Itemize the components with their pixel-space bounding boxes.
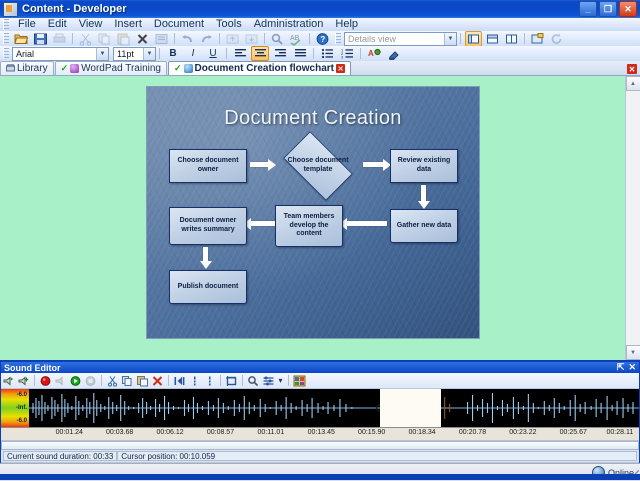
record-icon[interactable] (39, 375, 52, 387)
flowchart-node-team-members-develop-content[interactable]: Team members develop the content (275, 205, 343, 247)
undo-icon (179, 31, 196, 47)
align-justify-icon[interactable] (291, 46, 309, 61)
menu-item-file[interactable]: File (12, 18, 42, 31)
toolbar-grip-handle[interactable] (3, 33, 9, 44)
toolbar-separator (226, 48, 227, 59)
tab-label: Library (17, 63, 48, 74)
layout-single-icon[interactable] (465, 31, 482, 47)
title-bar: Content - Developer _ ❐ ✕ (0, 0, 640, 18)
ruler-tick: 00:13.45 (308, 429, 335, 436)
flowchart-slide[interactable]: Document Creation Choose document owner … (147, 87, 479, 338)
waveform-canvas[interactable] (29, 389, 639, 427)
mixer-icon[interactable] (293, 375, 306, 387)
toolbar-separator (34, 375, 35, 386)
workspace-vertical-scrollbar[interactable]: ▲ ▼ (625, 76, 640, 360)
sound-editor-close-icon[interactable]: ✕ (628, 362, 636, 373)
slide-title: Document Creation (147, 107, 479, 130)
play-icon[interactable] (69, 375, 82, 387)
ruler-tick: 00:28.11 (606, 429, 633, 436)
view-mode-value: Details view (348, 34, 396, 44)
db-scale-bottom: -6.0 (17, 418, 27, 424)
open-folder-icon[interactable] (13, 31, 30, 47)
toolbar-separator (72, 33, 73, 44)
view-mode-select[interactable]: Details view ▼ (344, 32, 457, 46)
toolbar-separator (313, 48, 314, 59)
toolbar-separator (242, 375, 243, 386)
copy-icon (96, 31, 113, 47)
stop-icon (84, 375, 97, 387)
training-icon (70, 64, 79, 73)
toolbar-separator (219, 33, 220, 44)
menu-item-administration[interactable]: Administration (248, 18, 330, 31)
library-icon (6, 64, 15, 73)
flowchart-icon (184, 64, 193, 73)
demote-icon (243, 31, 260, 47)
main-toolbar: AB ? Details view ▼ (0, 31, 640, 47)
waveform-unselected-region (380, 389, 441, 427)
node-label: Document owner writes summary (172, 217, 244, 235)
format-toolbar-grip-handle[interactable] (3, 48, 9, 59)
copy-icon[interactable] (121, 375, 134, 387)
align-left-icon[interactable] (231, 46, 249, 61)
ruler-tick: 00:23.22 (509, 429, 536, 436)
svg-text:A: A (368, 49, 374, 58)
toolbar-separator (159, 48, 160, 59)
ruler-tick: 00:08.57 (207, 429, 234, 436)
window-title: Content - Developer (22, 3, 127, 15)
db-scale: -6.0 -Inf. -6.0 (1, 389, 29, 427)
menu-item-view[interactable]: View (73, 18, 109, 31)
ruler-tick: 00:03.68 (106, 429, 133, 436)
sound-editor-toolbar: ▾ (1, 373, 639, 389)
ruler-tick: 00:11.01 (257, 429, 284, 436)
ruler-tick: 00:06.12 (156, 429, 183, 436)
layout-horizontal-split-icon[interactable] (484, 31, 501, 47)
sound-editor-panel: Sound Editor ⇱ ✕ (0, 361, 640, 463)
close-button[interactable]: ✕ (619, 1, 637, 17)
bullet-list-icon[interactable] (318, 46, 336, 61)
tab-library[interactable]: Library (0, 61, 54, 75)
format-toolbar: Arial ▼ 11pt ▼ B I U 123 (0, 46, 640, 62)
sound-editor-title-bar: Sound Editor ⇱ ✕ (1, 362, 639, 373)
align-center-icon[interactable] (251, 46, 269, 61)
toolbar-separator (168, 375, 169, 386)
ruler-tick: 00:18.34 (408, 429, 435, 436)
node-label: Review existing data (393, 157, 455, 175)
crop-icon[interactable] (225, 375, 238, 387)
node-label: Choose document owner (172, 157, 244, 175)
stop-record-icon (54, 375, 67, 387)
flowchart-node-choose-document-template[interactable]: Choose document template (275, 139, 361, 193)
arrow-owner-to-template (250, 161, 276, 168)
toolbar-separator (360, 48, 361, 59)
node-label: Team members develop the content (278, 213, 340, 239)
underline-button[interactable]: U (204, 46, 222, 61)
promote-icon (224, 31, 241, 47)
font-size-select[interactable]: 11pt ▼ (113, 47, 156, 61)
sound-editor-title: Sound Editor (4, 363, 61, 373)
timeline-ruler[interactable]: 00:01.24 00:03.68 00:06.12 00:08.57 00:1… (1, 427, 639, 440)
menu-item-edit[interactable]: Edit (42, 18, 73, 31)
insert-sound-icon[interactable] (2, 375, 15, 387)
ruler-tick: 00:01.24 (56, 429, 83, 436)
application-window: Content - Developer _ ❐ ✕ File Edit View… (0, 0, 640, 480)
node-label: Gather new data (397, 222, 451, 231)
menu-grip-handle[interactable] (3, 19, 9, 30)
go-to-start-icon[interactable] (173, 375, 186, 387)
arrow-template-to-review (363, 161, 391, 168)
arrow-review-to-gather (420, 185, 427, 209)
font-family-value: Arial (16, 49, 34, 59)
flowchart-node-gather-new-data[interactable]: Gather new data (390, 209, 458, 243)
tab-document-creation-flowchart[interactable]: ✓ Document Creation flowchart ✕ (168, 61, 351, 75)
numbered-list-icon[interactable]: 123 (338, 46, 356, 61)
db-scale-top: -6.0 (17, 392, 27, 398)
toolbar-separator (309, 33, 310, 44)
menu-bar: File Edit View Insert Document Tools Adm… (0, 18, 640, 32)
bold-button[interactable]: B (164, 46, 182, 61)
scroll-thumb[interactable] (1, 441, 639, 450)
app-document-icon (3, 2, 18, 17)
font-size-value: 11pt (117, 49, 134, 59)
toolbar-separator (460, 33, 461, 44)
waveform-graphic (29, 389, 639, 427)
find-icon (269, 31, 286, 47)
redo-icon (198, 31, 215, 47)
arrow-gather-to-team (339, 220, 387, 227)
cut-icon (77, 31, 94, 47)
layout-vertical-split-icon[interactable] (503, 31, 520, 47)
arrow-team-to-summary (243, 220, 275, 227)
node-label: Publish document (178, 283, 239, 292)
close-document-button[interactable]: ✕ (627, 64, 637, 74)
refresh-icon (548, 31, 565, 47)
tab-close-icon[interactable]: ✕ (336, 64, 345, 73)
dropdown-arrow[interactable]: ▾ (277, 375, 284, 387)
effects-icon[interactable] (262, 375, 275, 387)
chevron-down-icon[interactable]: ▼ (96, 48, 108, 60)
paste-icon (115, 31, 132, 47)
tab-wordpad-training[interactable]: ✓ WordPad Training (55, 61, 167, 75)
waveform-horizontal-scrollbar[interactable] (1, 440, 639, 450)
flowchart-node-review-existing-data[interactable]: Review existing data (390, 149, 458, 183)
ruler-tick: 00:25.67 (560, 429, 587, 436)
help-icon[interactable]: ? (314, 31, 331, 47)
scroll-up-button[interactable]: ▲ (626, 76, 640, 91)
toolbar-separator (288, 375, 289, 386)
highlight-icon[interactable] (385, 46, 403, 61)
svg-text:3: 3 (341, 54, 344, 59)
flowchart-node-choose-document-owner[interactable]: Choose document owner (169, 149, 247, 183)
append-sound-icon[interactable] (17, 375, 30, 387)
tab-label: Document Creation flowchart (195, 63, 334, 74)
check-icon: ✓ (61, 63, 69, 74)
delete-icon[interactable] (134, 31, 151, 47)
view-toolbar-grip-handle[interactable] (335, 33, 341, 44)
font-color-icon[interactable]: A (365, 46, 383, 61)
maximize-button[interactable]: ❐ (599, 1, 617, 17)
cut-icon[interactable] (106, 375, 119, 387)
sound-duration-status: Current sound duration: 00:33 (3, 451, 117, 461)
window-bottom-border (0, 474, 640, 480)
scroll-down-button[interactable]: ▼ (626, 345, 640, 360)
menu-item-tools[interactable]: Tools (210, 18, 248, 31)
arrow-summary-to-publish (202, 247, 209, 269)
marker-two-icon[interactable] (203, 375, 216, 387)
document-tab-strip: Library ✓ WordPad Training ✓ Document Cr… (0, 61, 640, 75)
save-icon[interactable] (32, 31, 49, 47)
italic-button[interactable]: I (184, 46, 202, 61)
menu-item-document[interactable]: Document (148, 18, 210, 31)
db-scale-mid: -Inf. (16, 405, 27, 411)
align-right-icon[interactable] (271, 46, 289, 61)
preview-icon[interactable] (529, 31, 546, 47)
properties-icon (153, 31, 170, 47)
spellcheck-icon: AB (288, 31, 305, 47)
check-icon: ✓ (174, 63, 182, 74)
flowchart-node-document-owner-writes-summary[interactable]: Document owner writes summary (169, 207, 247, 245)
delete-icon[interactable] (151, 375, 164, 387)
flowchart-node-publish-document[interactable]: Publish document (169, 270, 247, 304)
document-workspace: Document Creation Choose document owner … (0, 75, 640, 360)
paste-icon[interactable] (136, 375, 149, 387)
toolbar-separator (174, 33, 175, 44)
menu-item-insert[interactable]: Insert (108, 18, 148, 31)
svg-text:?: ? (320, 35, 325, 44)
cursor-position-status: Cursor position: 00:10.059 (117, 451, 637, 461)
zoom-icon[interactable] (247, 375, 260, 387)
pin-icon[interactable]: ⇱ (617, 362, 625, 373)
print-icon (51, 31, 68, 47)
node-label: Choose document template (275, 157, 361, 175)
chevron-down-icon[interactable]: ▼ (444, 33, 456, 45)
toolbar-separator (524, 33, 525, 44)
ruler-tick: 00:20.78 (459, 429, 486, 436)
waveform-display[interactable]: -6.0 -Inf. -6.0 (1, 389, 639, 427)
toolbar-separator (264, 33, 265, 44)
menu-item-help[interactable]: Help (329, 18, 364, 31)
ruler-tick: 00:15.90 (358, 429, 385, 436)
toolbar-separator (101, 375, 102, 386)
toolbar-separator (220, 375, 221, 386)
chevron-down-icon[interactable]: ▼ (143, 48, 155, 60)
window-controls: _ ❐ ✕ (579, 1, 640, 17)
sound-editor-status-row: Current sound duration: 00:33 Cursor pos… (1, 450, 639, 462)
minimize-button[interactable]: _ (579, 1, 597, 17)
marker-one-icon[interactable] (188, 375, 201, 387)
tab-label: WordPad Training (81, 63, 161, 74)
font-family-select[interactable]: Arial ▼ (12, 47, 109, 61)
